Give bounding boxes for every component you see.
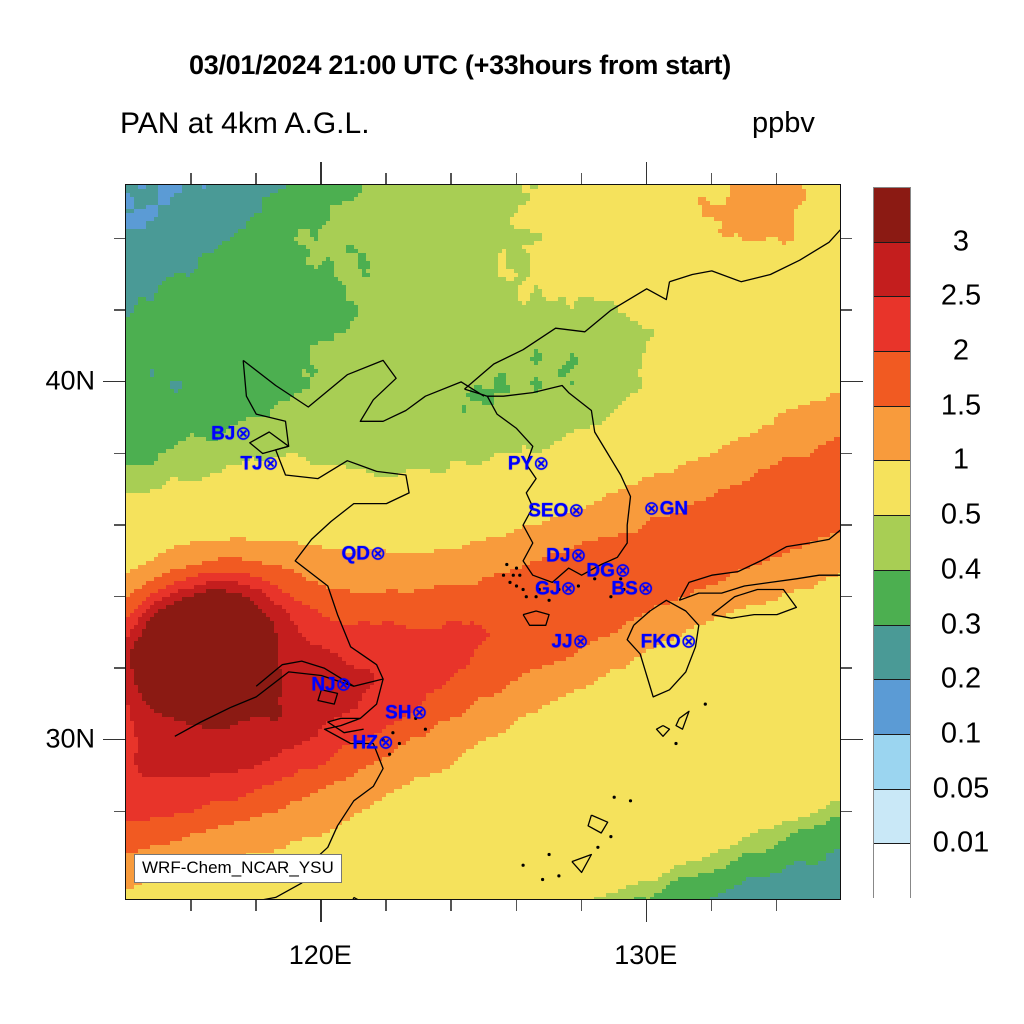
x-minor-tick: [581, 173, 583, 184]
colorbar-band: [874, 790, 910, 845]
x-minor-tick: [711, 173, 713, 184]
y-major-tick: [103, 381, 125, 383]
circled-x-icon: ⊗: [235, 424, 251, 445]
station-marker-bj: BJ⊗: [211, 425, 251, 444]
station-label: PY: [508, 454, 533, 475]
circled-x-icon: ⊗: [644, 498, 660, 519]
circled-x-icon: ⊗: [638, 578, 654, 599]
y-major-tick: [841, 739, 863, 741]
station-label: HZ: [353, 732, 378, 753]
colorbar-tick-label: 0.4: [918, 553, 1004, 586]
y-minor-tick: [841, 596, 852, 598]
x-minor-tick: [255, 173, 257, 184]
y-minor-tick: [114, 524, 125, 526]
y-minor-tick: [114, 309, 125, 311]
colorbar-tick-label: 3: [918, 225, 1004, 258]
x-axis-label: 130E: [614, 940, 677, 971]
colorbar-tick-label: 2.5: [918, 280, 1004, 313]
station-label: SEO: [528, 500, 568, 521]
colorbar-band: [874, 461, 910, 516]
station-marker-dj: DJ⊗: [546, 546, 586, 565]
station-marker-hz: HZ⊗: [353, 733, 394, 752]
y-major-tick: [103, 739, 125, 741]
colorbar-band: [874, 626, 910, 681]
station-marker-fko: FKO⊗: [641, 632, 697, 651]
x-minor-tick: [255, 900, 257, 911]
circled-x-icon: ⊗: [263, 454, 279, 475]
y-minor-tick: [841, 667, 852, 669]
station-marker-sh: SH⊗: [385, 704, 427, 723]
y-axis-label: 30N: [0, 723, 95, 754]
x-minor-tick: [190, 900, 192, 911]
colorbar-band: [874, 297, 910, 352]
y-minor-tick: [841, 309, 852, 311]
y-minor-tick: [841, 811, 852, 813]
circled-x-icon: ⊗: [533, 454, 549, 475]
y-minor-tick: [114, 667, 125, 669]
x-major-tick: [646, 900, 648, 922]
page-title: 03/01/2024 21:00 UTC (+33hours from star…: [0, 50, 920, 81]
colorbar-tick-label: 0.1: [918, 717, 1004, 750]
colorbar-tick-label: 2: [918, 335, 1004, 368]
colorbar-band: [874, 571, 910, 626]
station-marker-qd: QD⊗: [341, 544, 385, 563]
colorbar-tick-label: 0.01: [918, 827, 1004, 860]
station-label: FKO: [641, 631, 681, 652]
station-label: BS: [611, 578, 637, 599]
circled-x-icon: ⊗: [370, 543, 386, 564]
colorbar-tick-label: 0.5: [918, 499, 1004, 532]
colorbar-tick-label: 1: [918, 444, 1004, 477]
units-label: ppbv: [752, 107, 815, 140]
x-minor-tick: [711, 900, 713, 911]
station-label: TJ: [240, 454, 262, 475]
x-minor-tick: [516, 173, 518, 184]
y-minor-tick: [114, 453, 125, 455]
station-marker-bs: BS⊗: [611, 579, 653, 598]
circled-x-icon: ⊗: [412, 703, 428, 724]
colorbar-band: [874, 680, 910, 735]
station-label: QD: [341, 543, 370, 564]
circled-x-icon: ⊗: [570, 545, 586, 566]
x-minor-tick: [385, 900, 387, 911]
y-minor-tick: [841, 524, 852, 526]
y-minor-tick: [114, 238, 125, 240]
colorbar-band: [874, 516, 910, 571]
colorbar-tick-label: 0.3: [918, 608, 1004, 641]
colorbar-band: [874, 352, 910, 407]
station-marker-seo: SEO⊗: [528, 501, 584, 520]
model-attribution: WRF-Chem_NCAR_YSU: [134, 854, 342, 883]
x-major-tick: [646, 162, 648, 184]
colorbar-band: [874, 735, 910, 790]
x-minor-tick: [776, 173, 778, 184]
circled-x-icon: ⊗: [378, 732, 394, 753]
y-major-tick: [841, 381, 863, 383]
x-axis-label: 120E: [289, 940, 352, 971]
station-label: SH: [385, 703, 411, 724]
station-marker-nj: NJ⊗: [311, 675, 351, 694]
station-label: GN: [660, 498, 689, 519]
x-minor-tick: [190, 173, 192, 184]
x-minor-tick: [450, 173, 452, 184]
colorbar-band: [874, 407, 910, 462]
y-axis-label: 40N: [0, 365, 95, 396]
station-marker-jj: JJ⊗: [551, 632, 588, 651]
x-minor-tick: [581, 900, 583, 911]
circled-x-icon: ⊗: [681, 631, 697, 652]
y-minor-tick: [114, 811, 125, 813]
colorbar-band: [874, 188, 910, 243]
y-minor-tick: [841, 238, 852, 240]
y-minor-tick: [114, 596, 125, 598]
station-label: JJ: [551, 631, 572, 652]
station-label: DJ: [546, 545, 570, 566]
colorbar-tick-label: 0.2: [918, 663, 1004, 696]
station-marker-py: PY⊗: [508, 455, 549, 474]
circled-x-icon: ⊗: [568, 500, 584, 521]
circled-x-icon: ⊗: [573, 631, 589, 652]
station-marker-gj: GJ⊗: [535, 579, 576, 598]
station-marker-gn: ⊗GN: [644, 499, 688, 518]
colorbar[interactable]: [873, 187, 911, 898]
colorbar-tick-label: 1.5: [918, 389, 1004, 422]
x-major-tick: [320, 900, 322, 922]
x-minor-tick: [516, 900, 518, 911]
plot-subtitle: PAN at 4km A.G.L.: [120, 107, 370, 141]
station-marker-tj: TJ⊗: [240, 455, 278, 474]
x-minor-tick: [776, 900, 778, 911]
station-label: GJ: [535, 578, 560, 599]
y-minor-tick: [841, 453, 852, 455]
x-minor-tick: [385, 173, 387, 184]
station-label: NJ: [311, 674, 335, 695]
station-label: BJ: [211, 424, 235, 445]
circled-x-icon: ⊗: [560, 578, 576, 599]
x-major-tick: [320, 162, 322, 184]
map-plot-area[interactable]: BJ⊗TJ⊗QD⊗NJ⊗SH⊗HZ⊗PY⊗SEO⊗⊗GNDJ⊗DG⊗GJ⊗BS⊗…: [125, 184, 841, 900]
x-minor-tick: [450, 900, 452, 911]
colorbar-tick-label: 0.05: [918, 772, 1004, 805]
colorbar-band: [874, 243, 910, 298]
circled-x-icon: ⊗: [336, 674, 352, 695]
concentration-field: [126, 185, 841, 900]
colorbar-band: [874, 844, 910, 899]
